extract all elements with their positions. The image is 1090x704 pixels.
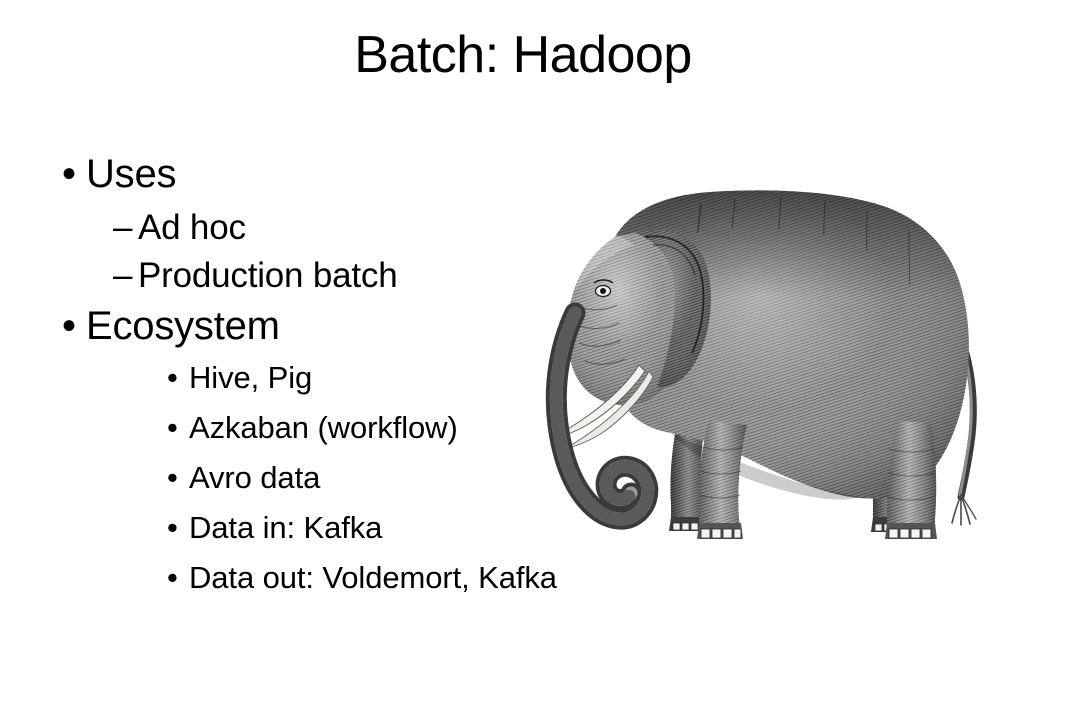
bullet-marker-icon: •: [62, 306, 86, 346]
list-item: • Avro data: [0, 458, 520, 508]
bullet-marker-icon: •: [62, 154, 86, 194]
list-item-label: Avro data: [189, 458, 320, 498]
list-item-label: Production batch: [138, 254, 397, 298]
dash-marker-icon: –: [113, 258, 138, 293]
list-item-label: Azkaban (workflow): [189, 408, 458, 448]
slide: Batch: Hadoop • Uses – Ad hoc – Producti…: [0, 0, 1090, 704]
list-item-label: Ecosystem: [86, 302, 280, 350]
bullet-marker-icon: •: [167, 562, 189, 593]
list-item: • Hive, Pig: [0, 358, 520, 408]
list-item: • Data out: Voldemort, Kafka: [0, 558, 520, 608]
list-item-label: Ad hoc: [138, 206, 246, 250]
elephant-icon: [495, 175, 995, 545]
list-item-label: Uses: [86, 150, 176, 198]
list-item: • Ecosystem: [0, 302, 520, 354]
dash-marker-icon: –: [113, 210, 138, 245]
bullet-marker-icon: •: [167, 362, 189, 393]
bullet-list: • Uses – Ad hoc – Production batch • Eco…: [0, 150, 520, 608]
list-item-label: Hive, Pig: [189, 358, 312, 398]
list-item: – Ad hoc: [0, 206, 520, 254]
list-item: • Data in: Kafka: [0, 508, 520, 558]
list-item: • Azkaban (workflow): [0, 408, 520, 458]
page-title: Batch: Hadoop: [0, 24, 1046, 86]
list-item-label: Data out: Voldemort, Kafka: [189, 558, 557, 598]
bullet-marker-icon: •: [167, 412, 189, 443]
list-item: • Uses: [0, 150, 520, 202]
bullet-marker-icon: •: [167, 512, 189, 543]
list-item-label: Data in: Kafka: [189, 508, 382, 548]
list-item: – Production batch: [0, 254, 520, 302]
bullet-marker-icon: •: [167, 462, 189, 493]
